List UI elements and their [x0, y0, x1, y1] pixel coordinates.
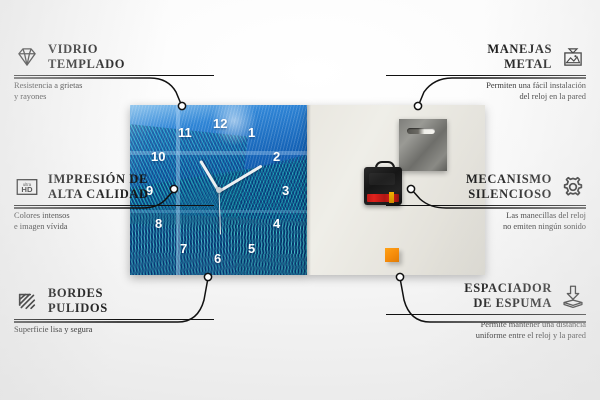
foam-spacer: [385, 248, 399, 262]
clock-numeral-3: 3: [282, 184, 289, 197]
clock-numeral-1: 1: [248, 126, 255, 139]
feature-title-line1: BORDES: [48, 286, 108, 301]
feature-title-line1: IMPRESIÓN DE: [48, 172, 149, 187]
feature-rule: [386, 314, 586, 316]
feature-subtitle-line1: Resistencia a grietas: [14, 80, 214, 91]
feature-mecanismo-silencioso: MECANISMO SILENCIOSO Las manecillas del …: [386, 172, 586, 233]
feature-rule: [14, 319, 214, 321]
feature-bordes-pulidos: BORDES PULIDOS Superficie lisa y segura: [14, 286, 214, 335]
feature-rule: [386, 75, 586, 77]
feature-subtitle-line1: Superficie lisa y segura: [14, 324, 214, 335]
clock-numeral-10: 10: [151, 150, 165, 163]
gear-icon: [560, 174, 586, 200]
clock-numeral-5: 5: [248, 242, 255, 255]
feature-subtitle-line1: Colores intensos: [14, 210, 214, 221]
feature-manejas-metal: MANEJAS METAL Permiten una fácil instala…: [386, 42, 586, 103]
clock-numeral-4: 4: [273, 217, 280, 230]
feature-subtitle-line2: uniforme entre el reloj y la pared: [386, 330, 586, 341]
feature-subtitle-line2: y rayones: [14, 91, 214, 102]
feature-subtitle-line1: Permite mantener una distancia: [386, 319, 586, 330]
ultra-hd-icon: ultra HD: [14, 174, 40, 200]
feature-subtitle-line2: del reloj en la pared: [386, 91, 586, 102]
feature-title-line2: TEMPLADO: [48, 57, 125, 72]
feature-rule: [386, 205, 586, 207]
feature-rule: [14, 75, 214, 77]
clock-numeral-6: 6: [214, 252, 221, 265]
feature-title-line1: ESPACIADOR: [464, 281, 552, 296]
feature-title-line2: ALTA CALIDAD: [48, 187, 149, 202]
polished-edges-icon: [14, 288, 40, 314]
infographic-stage: 12 1 2 3 4 5 6 7 8 9 10 11: [0, 0, 600, 400]
clock-center-cap: [216, 187, 222, 193]
feature-impresion-alta-calidad: ultra HD IMPRESIÓN DE ALTA CALIDAD Color…: [14, 172, 214, 233]
clock-numeral-12: 12: [213, 117, 227, 130]
feature-subtitle-line2: no emiten ningún sonido: [386, 221, 586, 232]
feature-subtitle-line1: Permiten una fácil instalación: [386, 80, 586, 91]
feature-title-line1: MANEJAS: [487, 42, 552, 57]
foam-spacer-icon: [560, 283, 586, 309]
ultra-hd-icon-text-bottom: HD: [21, 185, 33, 194]
feature-subtitle-line1: Las manecillas del reloj: [386, 210, 586, 221]
feature-title-line1: MECANISMO: [466, 172, 552, 187]
hanger-slot: [407, 128, 435, 134]
feature-title-line2: PULIDOS: [48, 301, 108, 316]
feature-espaciador-espuma: ESPACIADOR DE ESPUMA Permite mantener un…: [386, 281, 586, 342]
feature-title-line2: METAL: [487, 57, 552, 72]
clock-numeral-11: 11: [178, 126, 192, 139]
wall-frame-icon: [560, 44, 586, 70]
feature-subtitle-line2: e imagen vívida: [14, 221, 214, 232]
clock-numeral-2: 2: [273, 150, 280, 163]
feature-title-line2: SILENCIOSO: [466, 187, 552, 202]
clock-numeral-7: 7: [180, 242, 187, 255]
feature-title-line2: DE ESPUMA: [464, 296, 552, 311]
feature-rule: [14, 205, 214, 207]
diamond-icon: [14, 44, 40, 70]
feature-title-line1: VIDRIO: [48, 42, 125, 57]
metal-hanger-plate: [399, 119, 447, 171]
feature-vidrio-templado: VIDRIO TEMPLADO Resistencia a grietas y …: [14, 42, 214, 103]
